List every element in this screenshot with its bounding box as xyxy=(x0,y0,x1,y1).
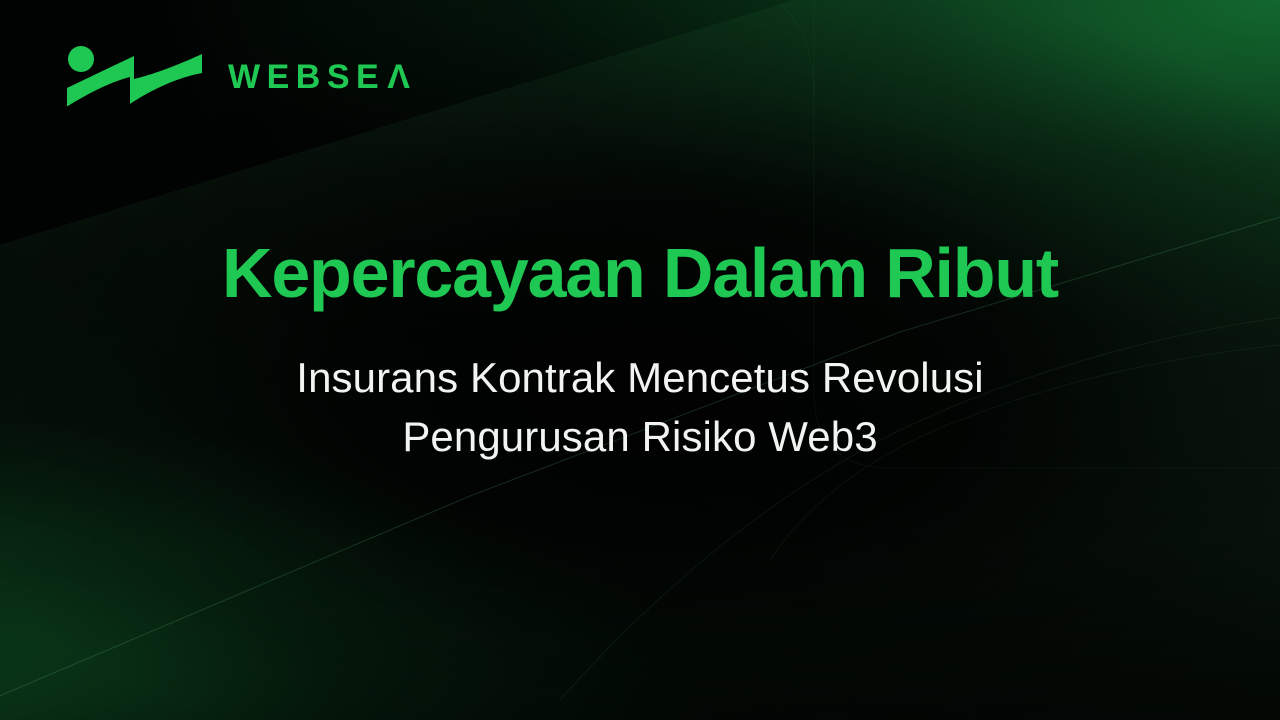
brand-wordmark-lambda-icon: Λ xyxy=(387,60,416,94)
brand-wordmark-text: WEBSE xyxy=(228,60,385,94)
brand-wordmark: WEBSEΛ xyxy=(228,60,416,94)
slide-subtitle-line-2: Pengurusan Risiko Web3 xyxy=(210,407,1070,467)
slide-headline: Kepercayaan Dalam Ribut xyxy=(0,236,1280,312)
slide-subtitle-line-1: Insurans Kontrak Mencetus Revolusi xyxy=(210,348,1070,408)
websea-wave-mark-icon xyxy=(64,46,206,108)
slide-subtitle: Insurans Kontrak Mencetus Revolusi Pengu… xyxy=(210,348,1070,467)
slide-content: Kepercayaan Dalam Ribut Insurans Kontrak… xyxy=(0,236,1280,467)
title-slide: WEBSEΛ Kepercayaan Dalam Ribut Insurans … xyxy=(0,0,1280,720)
brand-logo[interactable]: WEBSEΛ xyxy=(64,46,416,108)
